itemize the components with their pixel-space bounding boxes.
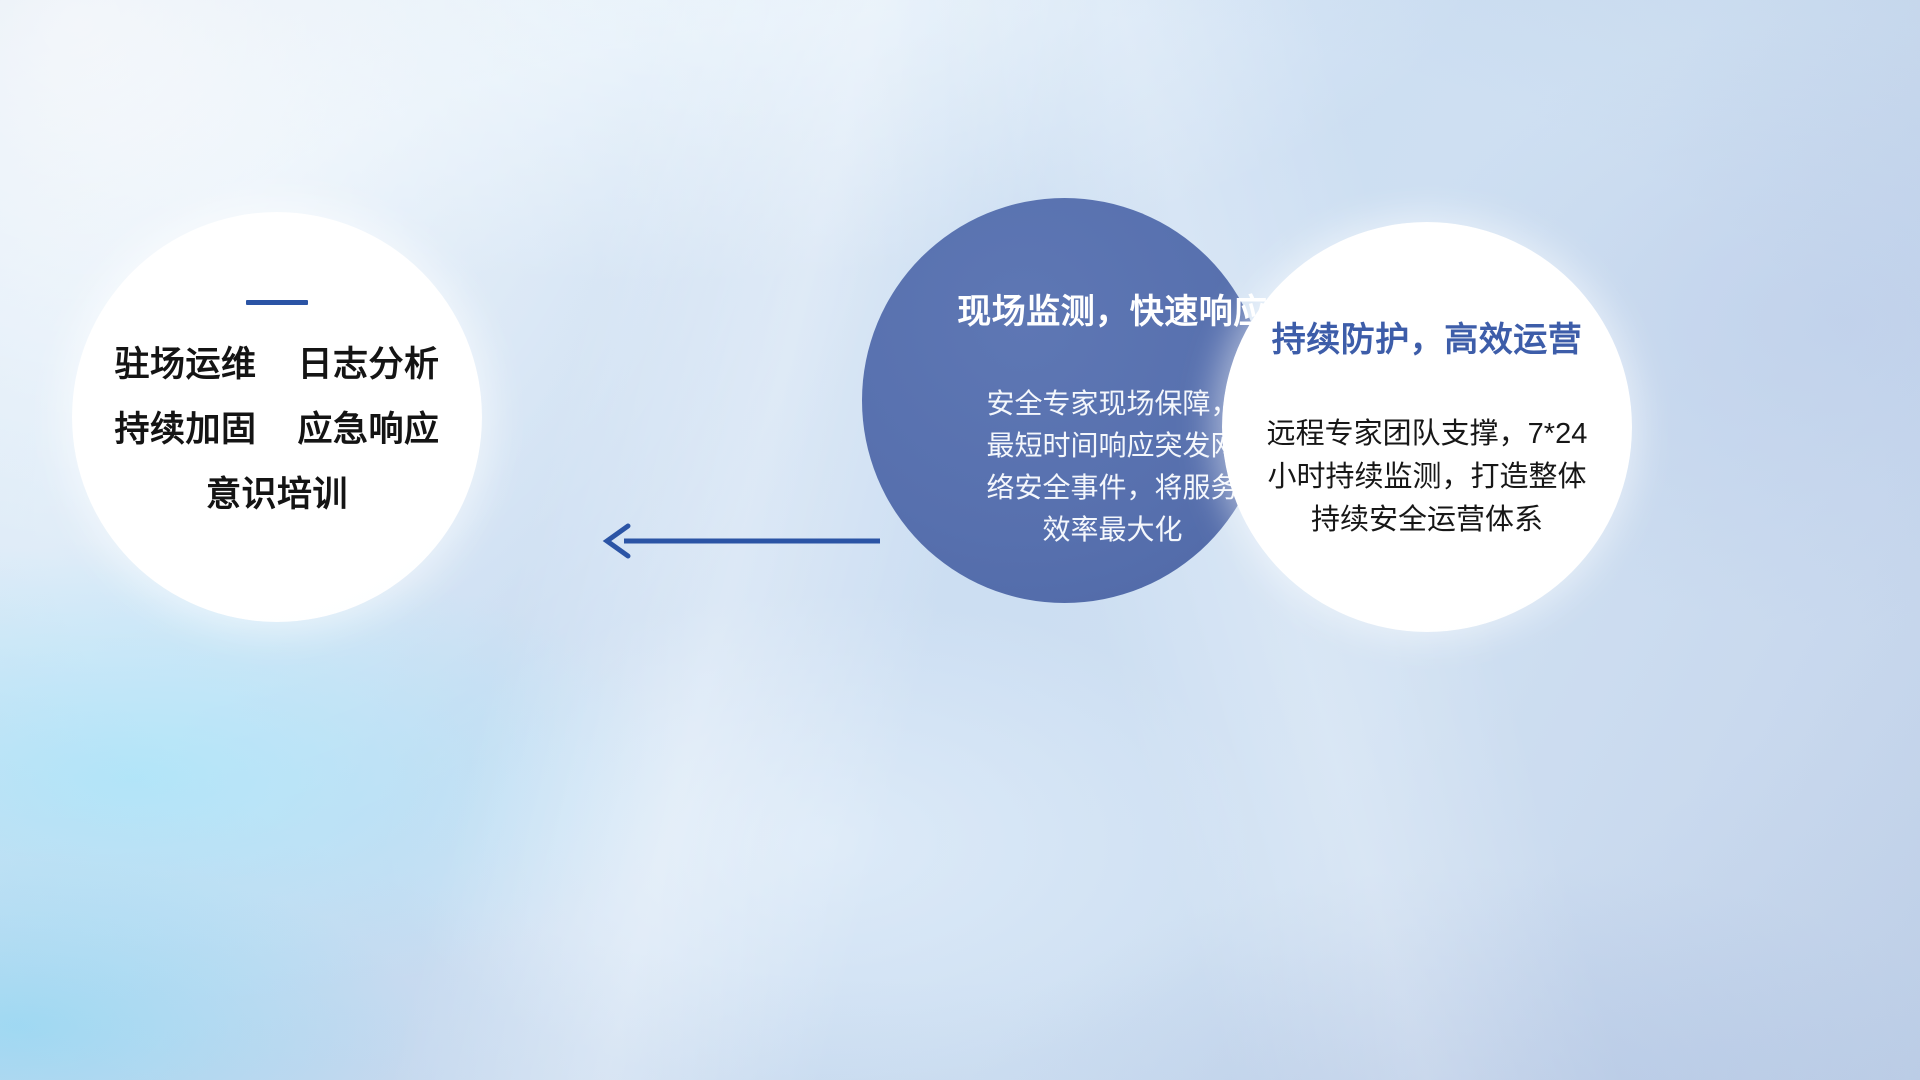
short-horizontal-rule-icon xyxy=(246,300,308,305)
arrow-left-icon xyxy=(598,520,884,562)
continuous-protection-content: 持续防护，高效运营 远程专家团队支撑，7*24小时持续监测，打造整体持续安全运营… xyxy=(1222,222,1632,542)
continuous-protection-description: 远程专家团队支撑，7*24小时持续监测，打造整体持续安全运营体系 xyxy=(1257,413,1597,542)
service-line-2: 持续加固 应急响应 xyxy=(115,412,440,447)
continuous-protection-title: 持续防护，高效运营 xyxy=(1272,322,1583,359)
services-circle-card[interactable]: 驻场运维 日志分析 持续加固 应急响应 意识培训 xyxy=(72,212,482,622)
onsite-monitoring-circle-card[interactable]: 现场监测，快速响应 安全专家现场保障，最短时间响应突发网络安全事件，将服务效率最… xyxy=(862,198,1267,603)
service-line-1: 驻场运维 日志分析 xyxy=(115,347,440,382)
slide-canvas: 驻场运维 日志分析 持续加固 应急响应 意识培训 现场监测，快速响应 安全专家现… xyxy=(0,0,1920,1080)
onsite-monitoring-content: 现场监测，快速响应 安全专家现场保障，最短时间响应突发网络安全事件，将服务效率最… xyxy=(862,198,1267,551)
continuous-protection-circle-card[interactable]: 持续防护，高效运营 远程专家团队支撑，7*24小时持续监测，打造整体持续安全运营… xyxy=(1222,222,1632,632)
service-line-3: 意识培训 xyxy=(206,477,348,512)
onsite-monitoring-description: 安全专家现场保障，最短时间响应突发网络安全事件，将服务效率最大化 xyxy=(979,383,1247,551)
services-circle-content: 驻场运维 日志分析 持续加固 应急响应 意识培训 xyxy=(72,212,482,512)
